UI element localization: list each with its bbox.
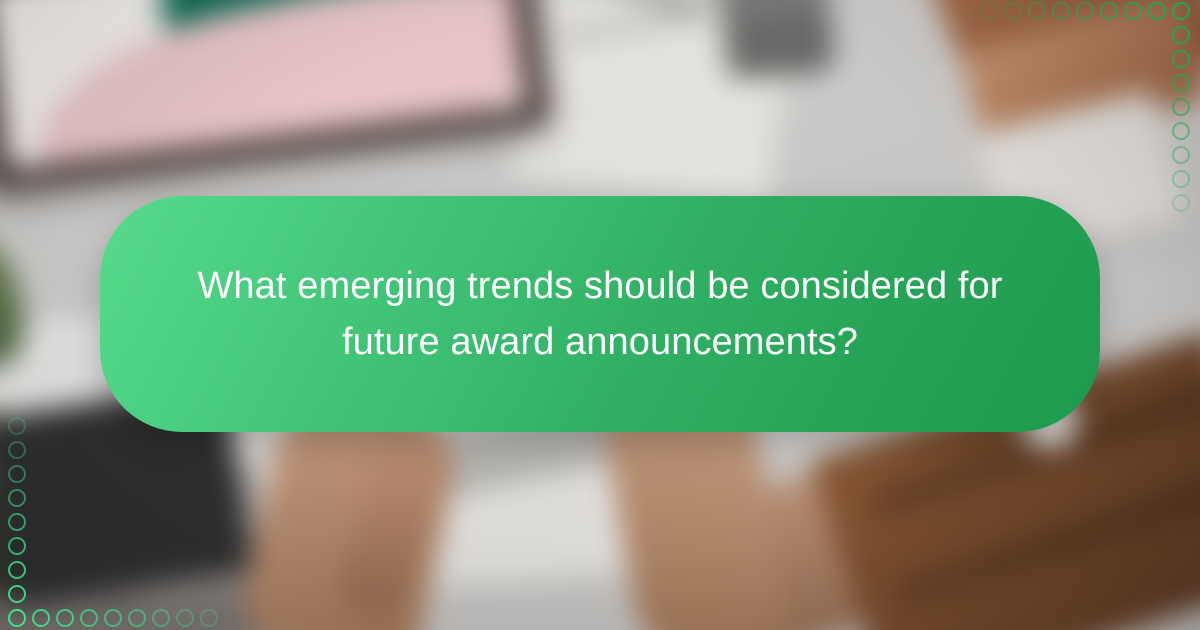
decor-dot (8, 513, 26, 531)
decor-dot (8, 537, 26, 555)
decor-dot (1172, 74, 1190, 92)
decor-dot (152, 609, 170, 627)
decor-dot (104, 609, 122, 627)
decor-dot (128, 609, 146, 627)
decor-dot (8, 465, 26, 483)
decor-dot (56, 609, 74, 627)
decor-dot (8, 417, 26, 435)
decor-dot (1172, 50, 1190, 68)
decor-dot (1172, 98, 1190, 116)
decor-dot (1172, 170, 1190, 188)
decor-dot (1148, 2, 1166, 20)
decor-dot (1052, 2, 1070, 20)
decor-dot (8, 585, 26, 603)
decor-dot (176, 609, 194, 627)
decor-dot (1172, 146, 1190, 164)
decor-dot (8, 609, 26, 627)
question-card[interactable]: What emerging trends should be considere… (100, 196, 1100, 432)
decor-dot (1100, 2, 1118, 20)
decor-dot (1172, 2, 1190, 20)
decor-dot (980, 2, 998, 20)
decor-dot (1028, 2, 1046, 20)
decor-dot (1076, 2, 1094, 20)
decor-dot (1124, 2, 1142, 20)
decor-dot (32, 609, 50, 627)
social-card-canvas: What emerging trends should be considere… (0, 0, 1200, 630)
decor-dot (1172, 26, 1190, 44)
decor-dot (8, 489, 26, 507)
decor-dot (200, 609, 218, 627)
question-text: What emerging trends should be considere… (180, 258, 1020, 370)
decor-dot (1172, 194, 1190, 212)
decor-dot (8, 441, 26, 459)
decor-dot (1004, 2, 1022, 20)
decor-dot (1172, 122, 1190, 140)
decor-dot (8, 561, 26, 579)
decor-dot (80, 609, 98, 627)
